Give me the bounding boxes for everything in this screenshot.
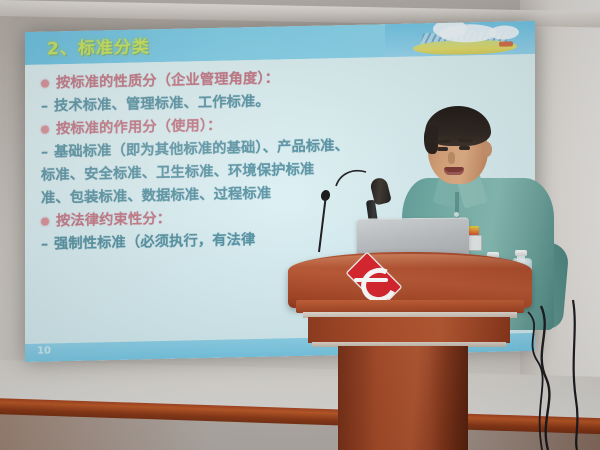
bullet-dot-icon: [41, 217, 49, 225]
bottle-cap: [515, 250, 527, 256]
slide-number: 10: [37, 345, 51, 356]
dash-marker-icon: –: [41, 141, 52, 164]
podium-front-panel: [308, 317, 510, 343]
podium-crest: [338, 258, 410, 302]
slide-title: 2、标准分类: [47, 32, 150, 59]
badge-pin-icon: [468, 226, 479, 235]
presentation-photo: 2、标准分类 按标准的性质分（企业管理角度）： – 技术标准、管理标准、工作标准…: [0, 0, 600, 450]
podium-column-shading: [338, 346, 468, 450]
name-badge: [468, 235, 482, 251]
dash-marker-icon: –: [41, 233, 52, 256]
header-accent-graphic: [499, 41, 513, 46]
dash-marker-icon: –: [41, 95, 52, 118]
presenter-ear: [482, 142, 492, 157]
bullet-dot-icon: [41, 125, 49, 133]
slide-line-text: 强制性标准（必须执行，有法律: [54, 229, 255, 256]
slide-line-text: 按法律约束性分：: [56, 208, 171, 234]
crest-bar: [354, 278, 388, 282]
eye: [437, 147, 448, 151]
shirt-button: [454, 212, 459, 217]
slide-line-text: 技术标准、管理标准、工作标准。: [54, 91, 270, 119]
eye: [459, 146, 470, 150]
nose: [448, 152, 455, 164]
mouth: [444, 167, 464, 175]
bullet-dot-icon: [41, 79, 49, 87]
